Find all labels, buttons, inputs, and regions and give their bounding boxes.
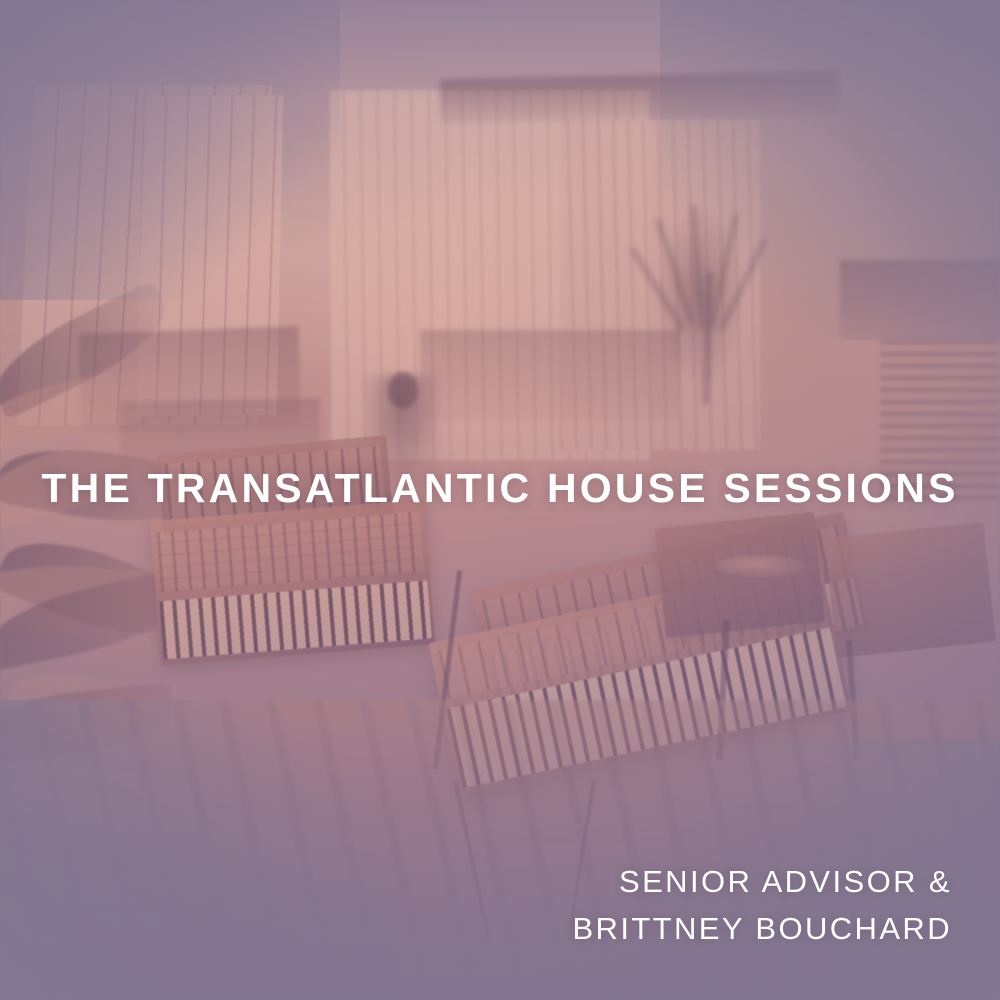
album-cover: THE TRANSATLANTIC HOUSE SESSIONS SENIOR … xyxy=(0,0,1000,1000)
credit-line-two: BRITTNEY BOUCHARD xyxy=(572,905,952,952)
top-fade xyxy=(0,0,1000,100)
cover-title: THE TRANSATLANTIC HOUSE SESSIONS xyxy=(0,468,1000,509)
cover-credits: SENIOR ADVISOR & BRITTNEY BOUCHARD xyxy=(572,858,952,952)
credit-line-one: SENIOR ADVISOR & xyxy=(572,858,952,905)
